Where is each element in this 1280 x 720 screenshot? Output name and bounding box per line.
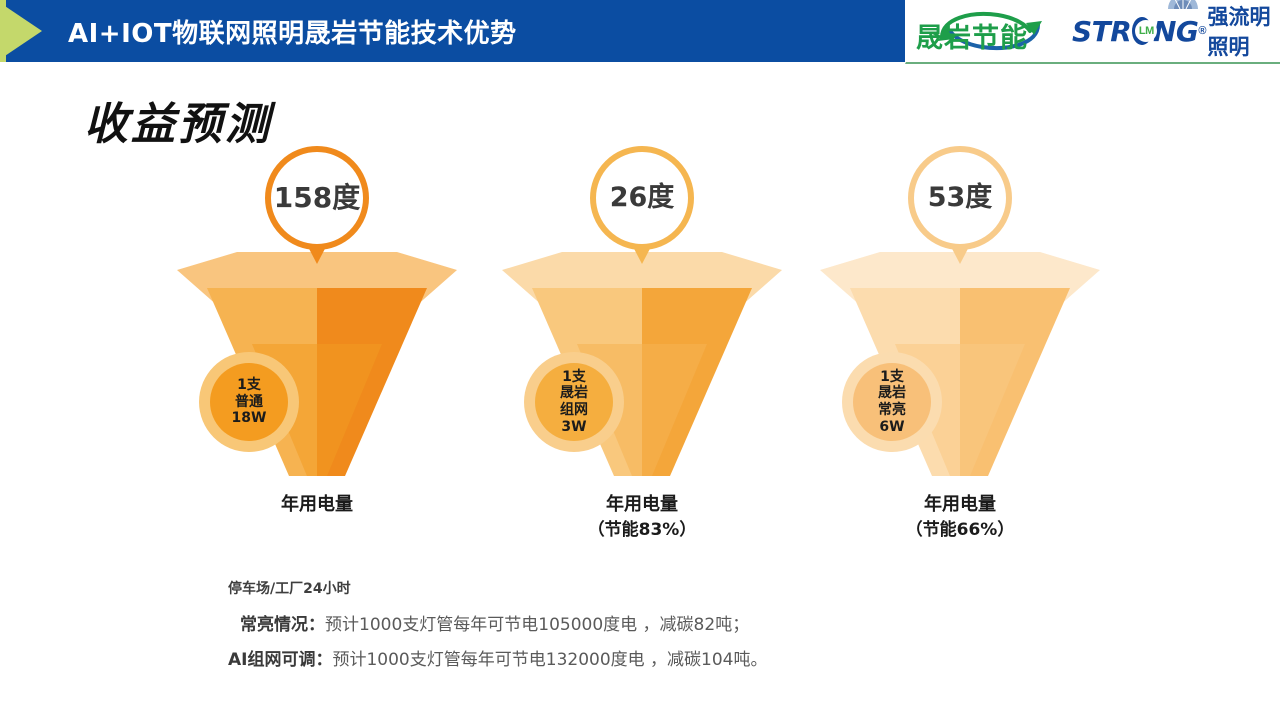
funnel-caption-1: 年用电量 <box>167 492 467 518</box>
logo-strong-group: STRLMNG® 强流明照明 <box>1072 5 1280 57</box>
funnel-caption-2: 年用电量 （节能83%） <box>492 492 792 543</box>
funnel-column-3: 53度 1支 晟岩 常亮 6W 年用电量 （节能66%） <box>810 140 1110 560</box>
lamp-badge-3: 1支 晟岩 常亮 6W <box>842 352 942 452</box>
badge-line: 常亮 <box>878 402 906 419</box>
note-line-2-lead: AI组网可调： <box>228 650 332 670</box>
logo-lm-circle-icon: LM <box>1132 17 1152 45</box>
note-line-1-lead: 常亮情况： <box>240 615 325 635</box>
pin-value-1: 158度 <box>265 146 369 250</box>
badge-line: 6W <box>879 419 904 436</box>
funnel-graphic-1: 158度 1支 普通 18W <box>167 140 467 490</box>
funnel-caption-main-3: 年用电量 <box>924 494 996 515</box>
badge-text-3: 1支 晟岩 常亮 6W <box>842 352 942 452</box>
funnel-graphic-2: 26度 1支 晟岩 组网 3W <box>492 140 792 490</box>
lamp-badge-1: 1支 普通 18W <box>199 352 299 452</box>
badge-line: 3W <box>561 419 586 436</box>
pin-value-2: 26度 <box>590 146 694 250</box>
badge-line: 1支 <box>237 377 261 394</box>
logo-strong-part1: STR <box>1072 15 1131 48</box>
light-fan-icon <box>1166 0 1200 9</box>
pin-marker-2: 26度 <box>590 146 694 250</box>
badge-line: 晟岩 <box>878 385 906 402</box>
pin-marker-3: 53度 <box>908 146 1012 250</box>
funnel-graphic-3: 53度 1支 晟岩 常亮 6W <box>810 140 1110 490</box>
funnel-column-1: 158度 1支 普通 18W 年用电量 <box>167 140 467 560</box>
badge-line: 18W <box>232 410 267 427</box>
funnel-chart-group: 158度 1支 普通 18W 年用电量 <box>0 140 1280 560</box>
logo-strong-part2: NG <box>1153 15 1198 48</box>
company-logo: 晟岩节能 STRLMNG® 强流明照明 <box>905 0 1280 64</box>
pin-marker-1: 158度 <box>265 146 369 250</box>
footnote-block: 停车场/工厂24小时 常亮情况：预计1000支灯管每年可节电105000度电 ，… <box>228 578 1128 680</box>
badge-line: 晟岩 <box>560 385 588 402</box>
note-line-1-body: 预计1000支灯管每年可节电105000度电 ，减碳82吨； <box>325 615 749 635</box>
funnel-caption-main-2: 年用电量 <box>606 494 678 515</box>
page-title: AI+IOT物联网照明晟岩节能技术优势 <box>68 13 517 50</box>
funnel-caption-3: 年用电量 （节能66%） <box>810 492 1110 543</box>
note-scenario: 停车场/工厂24小时 <box>228 578 1128 598</box>
note-line-ai-network: AI组网可调：预计1000支灯管每年可节电132000度电 ，减碳104吨。 <box>228 645 1128 670</box>
logo-brand-chinese: 晟岩节能 <box>916 16 1028 55</box>
logo-brand-chinese-2: 强流明照明 <box>1207 1 1280 61</box>
badge-line: 1支 <box>562 369 586 386</box>
badge-line: 1支 <box>880 369 904 386</box>
note-line-2-body: 预计1000支灯管每年可节电132000度电 ，减碳104吨。 <box>332 650 767 670</box>
funnel-caption-sub-2: （节能83%） <box>492 518 792 543</box>
funnel-caption-sub-3: （节能66%） <box>810 518 1110 543</box>
badge-line: 组网 <box>560 402 588 419</box>
registered-mark: ® <box>1198 25 1206 37</box>
funnel-caption-main-1: 年用电量 <box>281 494 353 515</box>
badge-line: 普通 <box>235 394 263 411</box>
pin-value-3: 53度 <box>908 146 1012 250</box>
funnel-column-2: 26度 1支 晟岩 组网 3W 年用电量 （节能83%） <box>492 140 792 560</box>
lamp-badge-2: 1支 晟岩 组网 3W <box>524 352 624 452</box>
badge-text-1: 1支 普通 18W <box>199 352 299 452</box>
header-chevron-icon <box>0 0 42 62</box>
badge-text-2: 1支 晟岩 组网 3W <box>524 352 624 452</box>
logo-brand-cn-group: 晟岩节能 <box>912 5 1072 57</box>
note-line-always-on: 常亮情况：预计1000支灯管每年可节电105000度电 ，减碳82吨； <box>228 610 1128 635</box>
